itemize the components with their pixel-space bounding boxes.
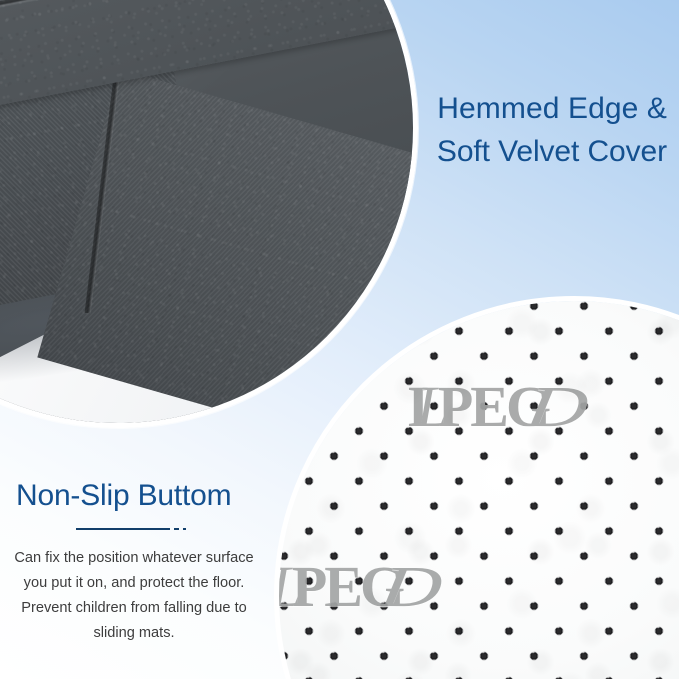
non-slip-bottom-photo: ILPEGD ILPEGD ILPEGD bbox=[279, 301, 679, 679]
brand-logo-prefix: I bbox=[407, 374, 427, 439]
brand-logo-tail: D bbox=[522, 373, 589, 440]
brand-logo-prefix: I bbox=[274, 554, 281, 619]
rubber-grip-dots bbox=[274, 296, 679, 679]
feature-heading-line-1: Hemmed Edge & bbox=[437, 88, 667, 131]
divider-line bbox=[76, 528, 170, 530]
feature-heading-hemmed-edge: Hemmed Edge & Soft Velvet Cover bbox=[437, 88, 667, 173]
divider-dash-small bbox=[183, 528, 186, 530]
brand-logo-script: L bbox=[417, 374, 443, 439]
body-line: you put it on, and protect the floor. bbox=[14, 571, 254, 596]
feature-heading-non-slip: Non-Slip Buttom bbox=[0, 478, 268, 514]
brand-logo-mark: ILPEGD bbox=[274, 553, 429, 620]
body-line: Prevent children from falling due to bbox=[14, 596, 254, 621]
body-line: Can fix the position whatever surface bbox=[14, 546, 254, 571]
brand-logo-rest: PEG bbox=[292, 554, 402, 619]
rubber-grip-dots-highlight bbox=[274, 296, 679, 679]
brand-logo-script: L bbox=[274, 554, 297, 619]
divider-dash-large bbox=[174, 528, 179, 530]
heading-divider bbox=[76, 528, 268, 530]
feature-body-non-slip: Can fix the position whatever surface yo… bbox=[0, 546, 268, 646]
brand-logo-rest: PEG bbox=[438, 374, 548, 439]
brand-logo-tail: D bbox=[376, 553, 443, 620]
non-slip-bottom-photo-circle: ILPEGD ILPEGD ILPEGD bbox=[274, 296, 679, 679]
product-feature-image: ILPEGD ILPEGD ILPEGD Hemmed Edge & Soft … bbox=[0, 0, 679, 679]
body-line: sliding mats. bbox=[14, 621, 254, 646]
feature-heading-line-2: Soft Velvet Cover bbox=[437, 131, 667, 174]
brand-logo-mark: ILPEGD bbox=[407, 373, 575, 440]
feature-block-non-slip: Non-Slip Buttom Can fix the position wha… bbox=[0, 478, 268, 646]
